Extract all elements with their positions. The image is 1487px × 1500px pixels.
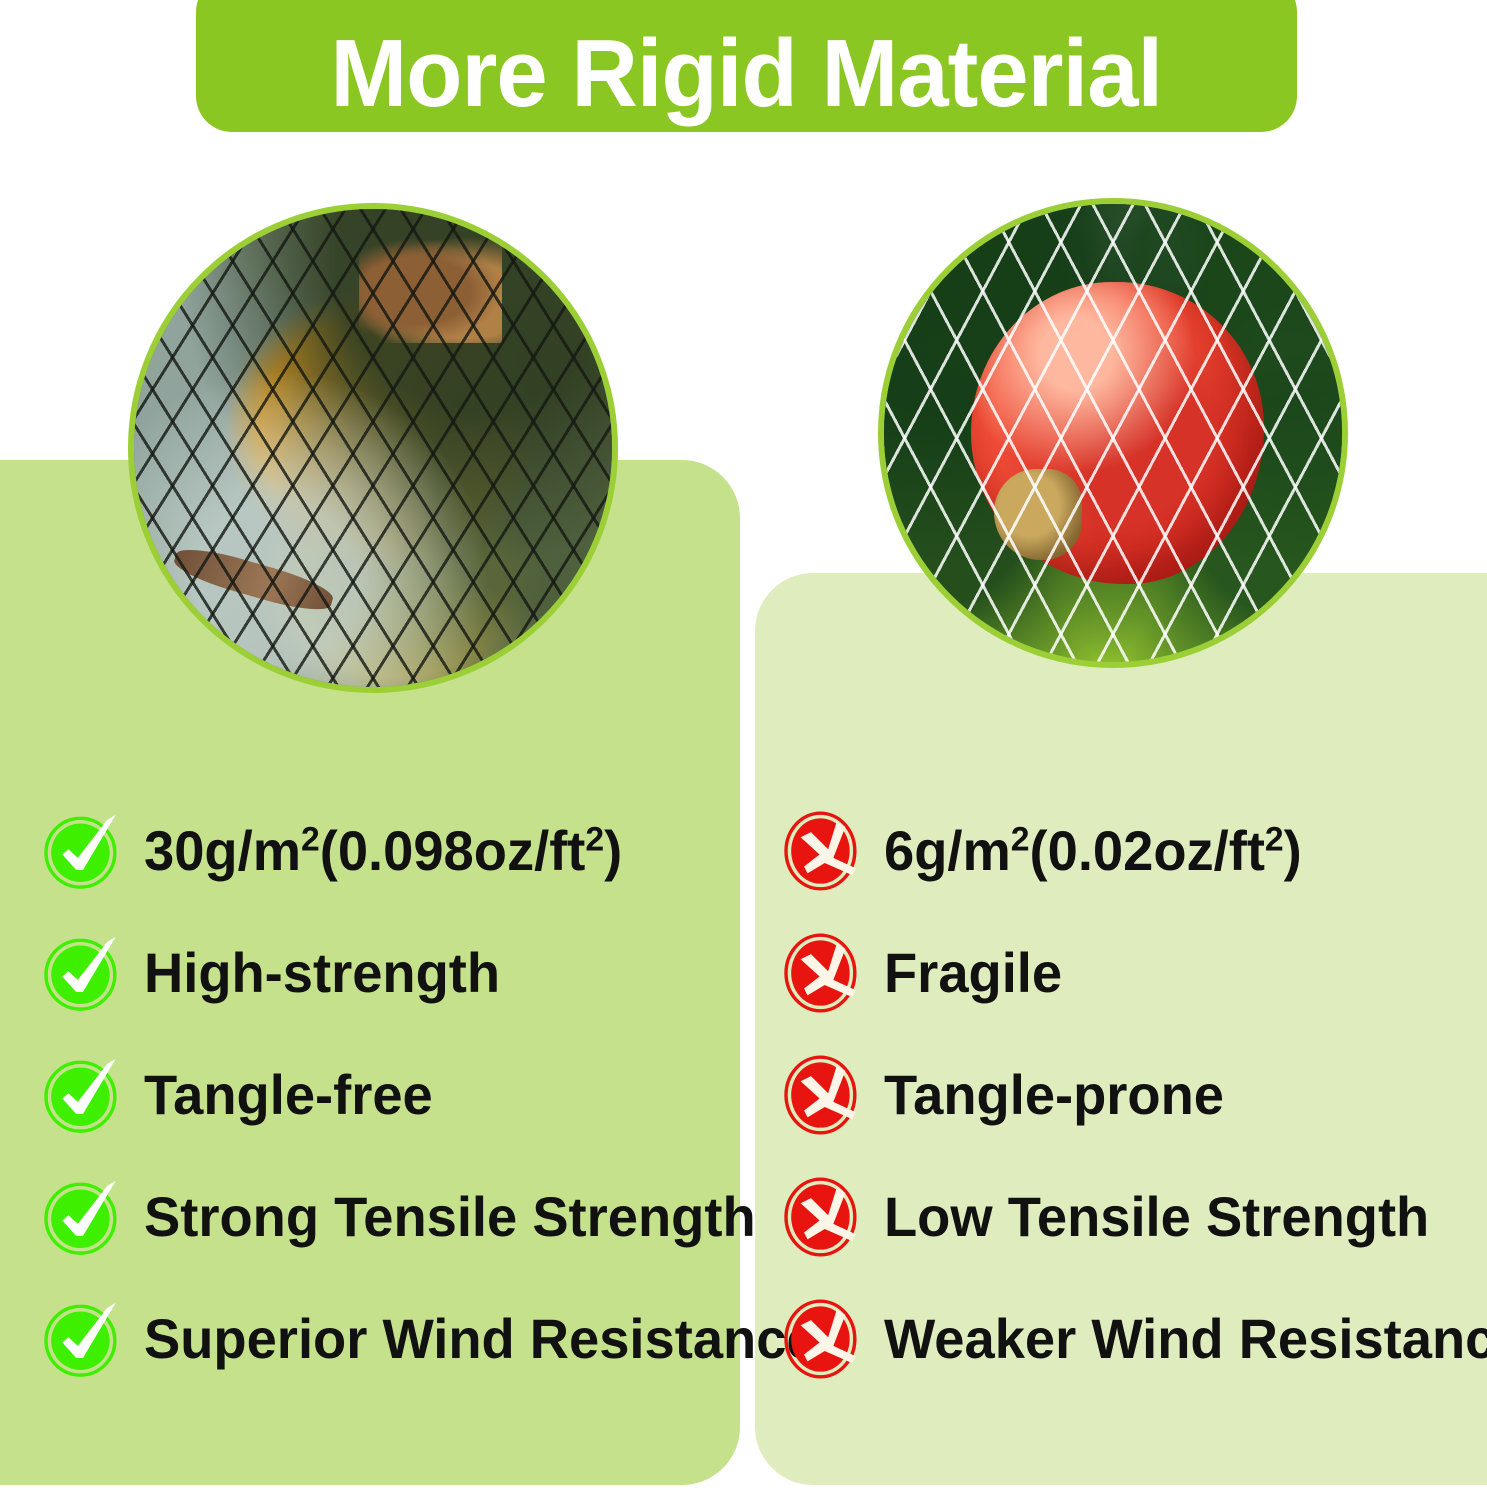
x-circle-icon: [780, 1052, 866, 1138]
white-netting-overlay: [878, 198, 1348, 668]
list-item: Tangle-free: [40, 1034, 740, 1156]
page-title: More Rigid Material: [331, 24, 1163, 124]
check-circle-icon: [40, 930, 126, 1016]
bad-feature-list: 6g/m2(0.02oz/ft2) Fragile Tangle-pro: [780, 790, 1480, 1400]
orange-persimmon-under-black-netting-photo: [128, 203, 618, 693]
black-netting-overlay: [128, 203, 618, 693]
list-item: 30g/m2(0.098oz/ft2): [40, 790, 740, 912]
list-item-label: Tangle-prone: [884, 1065, 1224, 1125]
list-item-label: Low Tensile Strength: [884, 1187, 1429, 1247]
list-item-label: 6g/m2(0.02oz/ft2): [884, 821, 1302, 881]
list-item: Weaker Wind Resistance: [780, 1278, 1480, 1400]
good-feature-list: 30g/m2(0.098oz/ft2) High-strength Ta: [40, 790, 740, 1400]
list-item-label: High-strength: [144, 943, 500, 1003]
x-circle-icon: [780, 808, 866, 894]
x-circle-icon: [780, 1296, 866, 1382]
title-banner: More Rigid Material: [196, 0, 1297, 132]
list-item-label: Tangle-free: [144, 1065, 433, 1125]
list-item: Fragile: [780, 912, 1480, 1034]
comparison-infographic: More Rigid Material 30g/m2(0: [0, 0, 1487, 1500]
list-item-label: Fragile: [884, 943, 1062, 1003]
check-circle-icon: [40, 808, 126, 894]
list-item: High-strength: [40, 912, 740, 1034]
list-item: 6g/m2(0.02oz/ft2): [780, 790, 1480, 912]
check-circle-icon: [40, 1174, 126, 1260]
list-item: Strong Tensile Strength: [40, 1156, 740, 1278]
red-pomegranate-under-white-netting-photo: [878, 198, 1348, 668]
list-item-label: Weaker Wind Resistance: [884, 1309, 1487, 1369]
x-circle-icon: [780, 1174, 866, 1260]
list-item: Superior Wind Resistance: [40, 1278, 740, 1400]
check-circle-icon: [40, 1052, 126, 1138]
check-circle-icon: [40, 1296, 126, 1382]
list-item-label: Strong Tensile Strength: [144, 1187, 756, 1247]
list-item: Low Tensile Strength: [780, 1156, 1480, 1278]
list-item-label: Superior Wind Resistance: [144, 1309, 817, 1369]
list-item-label: 30g/m2(0.098oz/ft2): [144, 821, 622, 881]
x-circle-icon: [780, 930, 866, 1016]
list-item: Tangle-prone: [780, 1034, 1480, 1156]
